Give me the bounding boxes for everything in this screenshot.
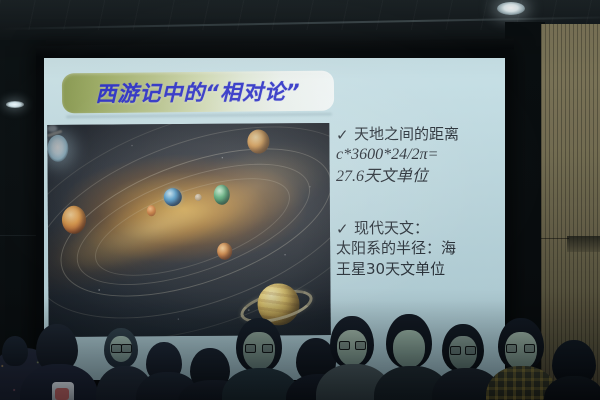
bullet-1-line-2: c*3600*24/2π= [336,144,498,166]
bullet-2-text: 现代天文： [354,219,429,237]
planet-earth-icon [163,188,181,206]
slide-title: 西游记中的“相对论” [95,76,300,108]
slide-title-banner: 西游记中的“相对论” [62,71,334,114]
checkmark-icon: ✓ [336,125,349,145]
bullet-1-text: 天地之间的距离 [354,125,459,143]
shirt-accent [55,388,69,400]
bullet-2-line-1: ✓ 现代天文： [336,218,498,238]
bullet-block-2: ✓ 现代天文： 太阳系的半径：海 王星30天文单位 [336,218,498,279]
solar-system-image [47,123,330,337]
planet-mercury-icon [147,205,156,216]
formula-text: c*3600*24/2π= [336,146,438,163]
wall-panel-ledge [567,236,600,252]
wall-panel-seam [541,238,569,239]
bullet-1-line-3: 27.6天文单位 [336,166,498,188]
formula-result: 27.6天文单位 [336,168,428,185]
bullet-2-line-2: 太阳系的半径：海 [336,238,498,258]
checkmark-icon: ✓ [336,219,349,239]
recessed-downlight-icon [497,2,525,15]
slatted-wood-wall-panel [541,24,600,400]
slide-body-text: ✓ 天地之间的距离 c*3600*24/2π= 27.6天文单位 ✓ 现代天文：… [336,124,498,309]
bullet-block-1: ✓ 天地之间的距离 c*3600*24/2π= 27.6天文单位 [336,124,498,188]
left-wall-seam [0,235,40,236]
lecture-hall-photo: 西游记中的“相对论” [0,0,600,400]
right-wall-dark [505,22,545,400]
bullet-2-detail-2: 王星30天文单位 [336,260,445,278]
projected-slide: 西游记中的“相对论” [44,58,505,380]
planet-saturn-icon [243,276,305,337]
planet-mars-icon [217,242,232,259]
bullet-1-line-1: ✓ 天地之间的距离 [336,124,498,144]
slide-title-banner-shadow [66,113,332,119]
wall-accent-light-icon [6,101,24,108]
planet-moon-icon [194,194,201,201]
bullet-2-detail-1: 太阳系的半径：海 [336,239,456,257]
planet-jupiter-icon [62,205,86,233]
bullet-2-line-3: 王星30天文单位 [336,259,498,279]
